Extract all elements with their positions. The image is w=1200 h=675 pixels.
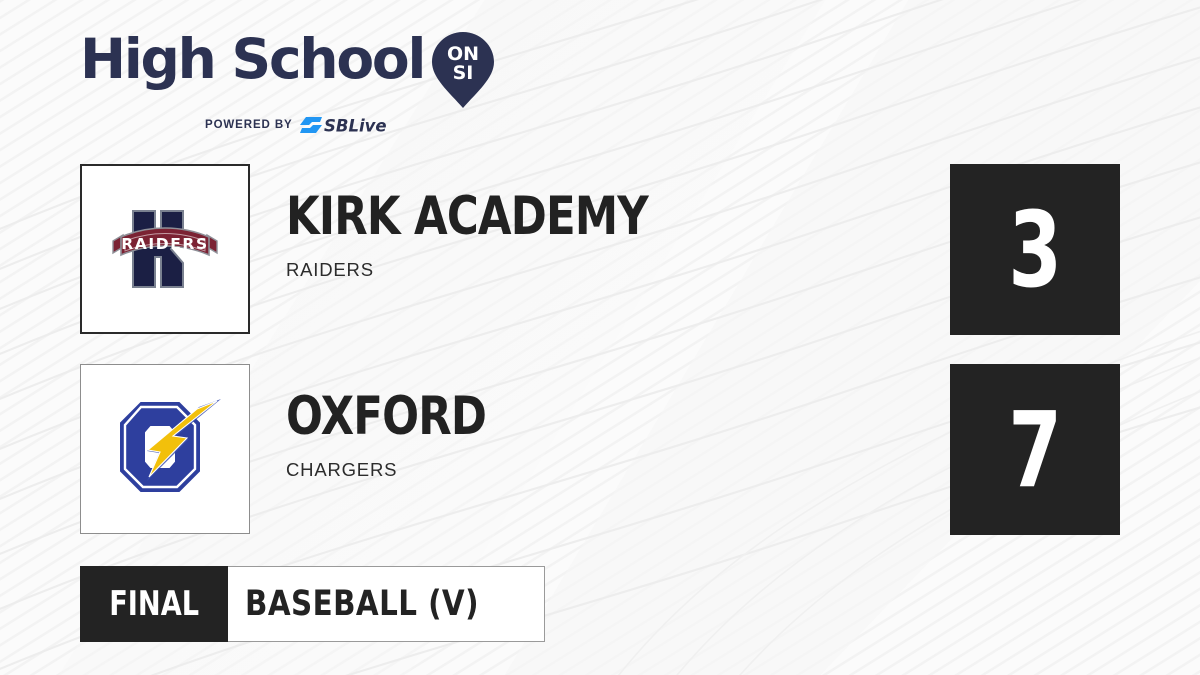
status-badge: FINAL bbox=[80, 566, 228, 642]
brand-wordmark: High School bbox=[80, 34, 424, 85]
team-name: KIRK ACADEMY bbox=[286, 190, 648, 243]
team-mascot: CHARGERS bbox=[286, 459, 530, 481]
team-logo-card bbox=[80, 364, 250, 534]
sblive-logo-icon: SBLive bbox=[300, 115, 400, 135]
brand-logo: High School ON SI POWERED BY SBLive bbox=[80, 34, 495, 135]
team-score-box: 3 bbox=[950, 164, 1120, 335]
team-score: 3 bbox=[1008, 198, 1062, 302]
oxford-chargers-logo-icon bbox=[103, 387, 227, 511]
on-si-badge-icon: ON SI bbox=[431, 31, 495, 114]
kirk-logo-banner-text: RAIDERS bbox=[121, 235, 208, 253]
sport-label-container: BASEBALL (V) bbox=[228, 566, 545, 642]
team-info: OXFORD CHARGERS bbox=[286, 390, 530, 481]
kirk-academy-raiders-logo-icon: RAIDERS bbox=[105, 189, 225, 309]
on-si-badge-line2: SI bbox=[453, 62, 474, 84]
team-info: KIRK ACADEMY RAIDERS bbox=[286, 190, 727, 281]
team-name: OXFORD bbox=[286, 390, 486, 443]
team-score: 7 bbox=[1008, 398, 1062, 502]
scoreboard-graphic: High School ON SI POWERED BY SBLive bbox=[0, 0, 1200, 675]
powered-by-row: POWERED BY SBLive bbox=[205, 115, 495, 135]
sblive-wordmark: SBLive bbox=[324, 117, 387, 136]
sport-label: BASEBALL (V) bbox=[245, 584, 479, 624]
team-score-box: 7 bbox=[950, 364, 1120, 535]
powered-by-label: POWERED BY bbox=[205, 119, 293, 131]
game-status-bar: FINAL BASEBALL (V) bbox=[80, 566, 545, 642]
team-mascot: RAIDERS bbox=[286, 259, 727, 281]
team-logo-card: RAIDERS bbox=[80, 164, 250, 334]
status-badge-label: FINAL bbox=[109, 584, 199, 624]
